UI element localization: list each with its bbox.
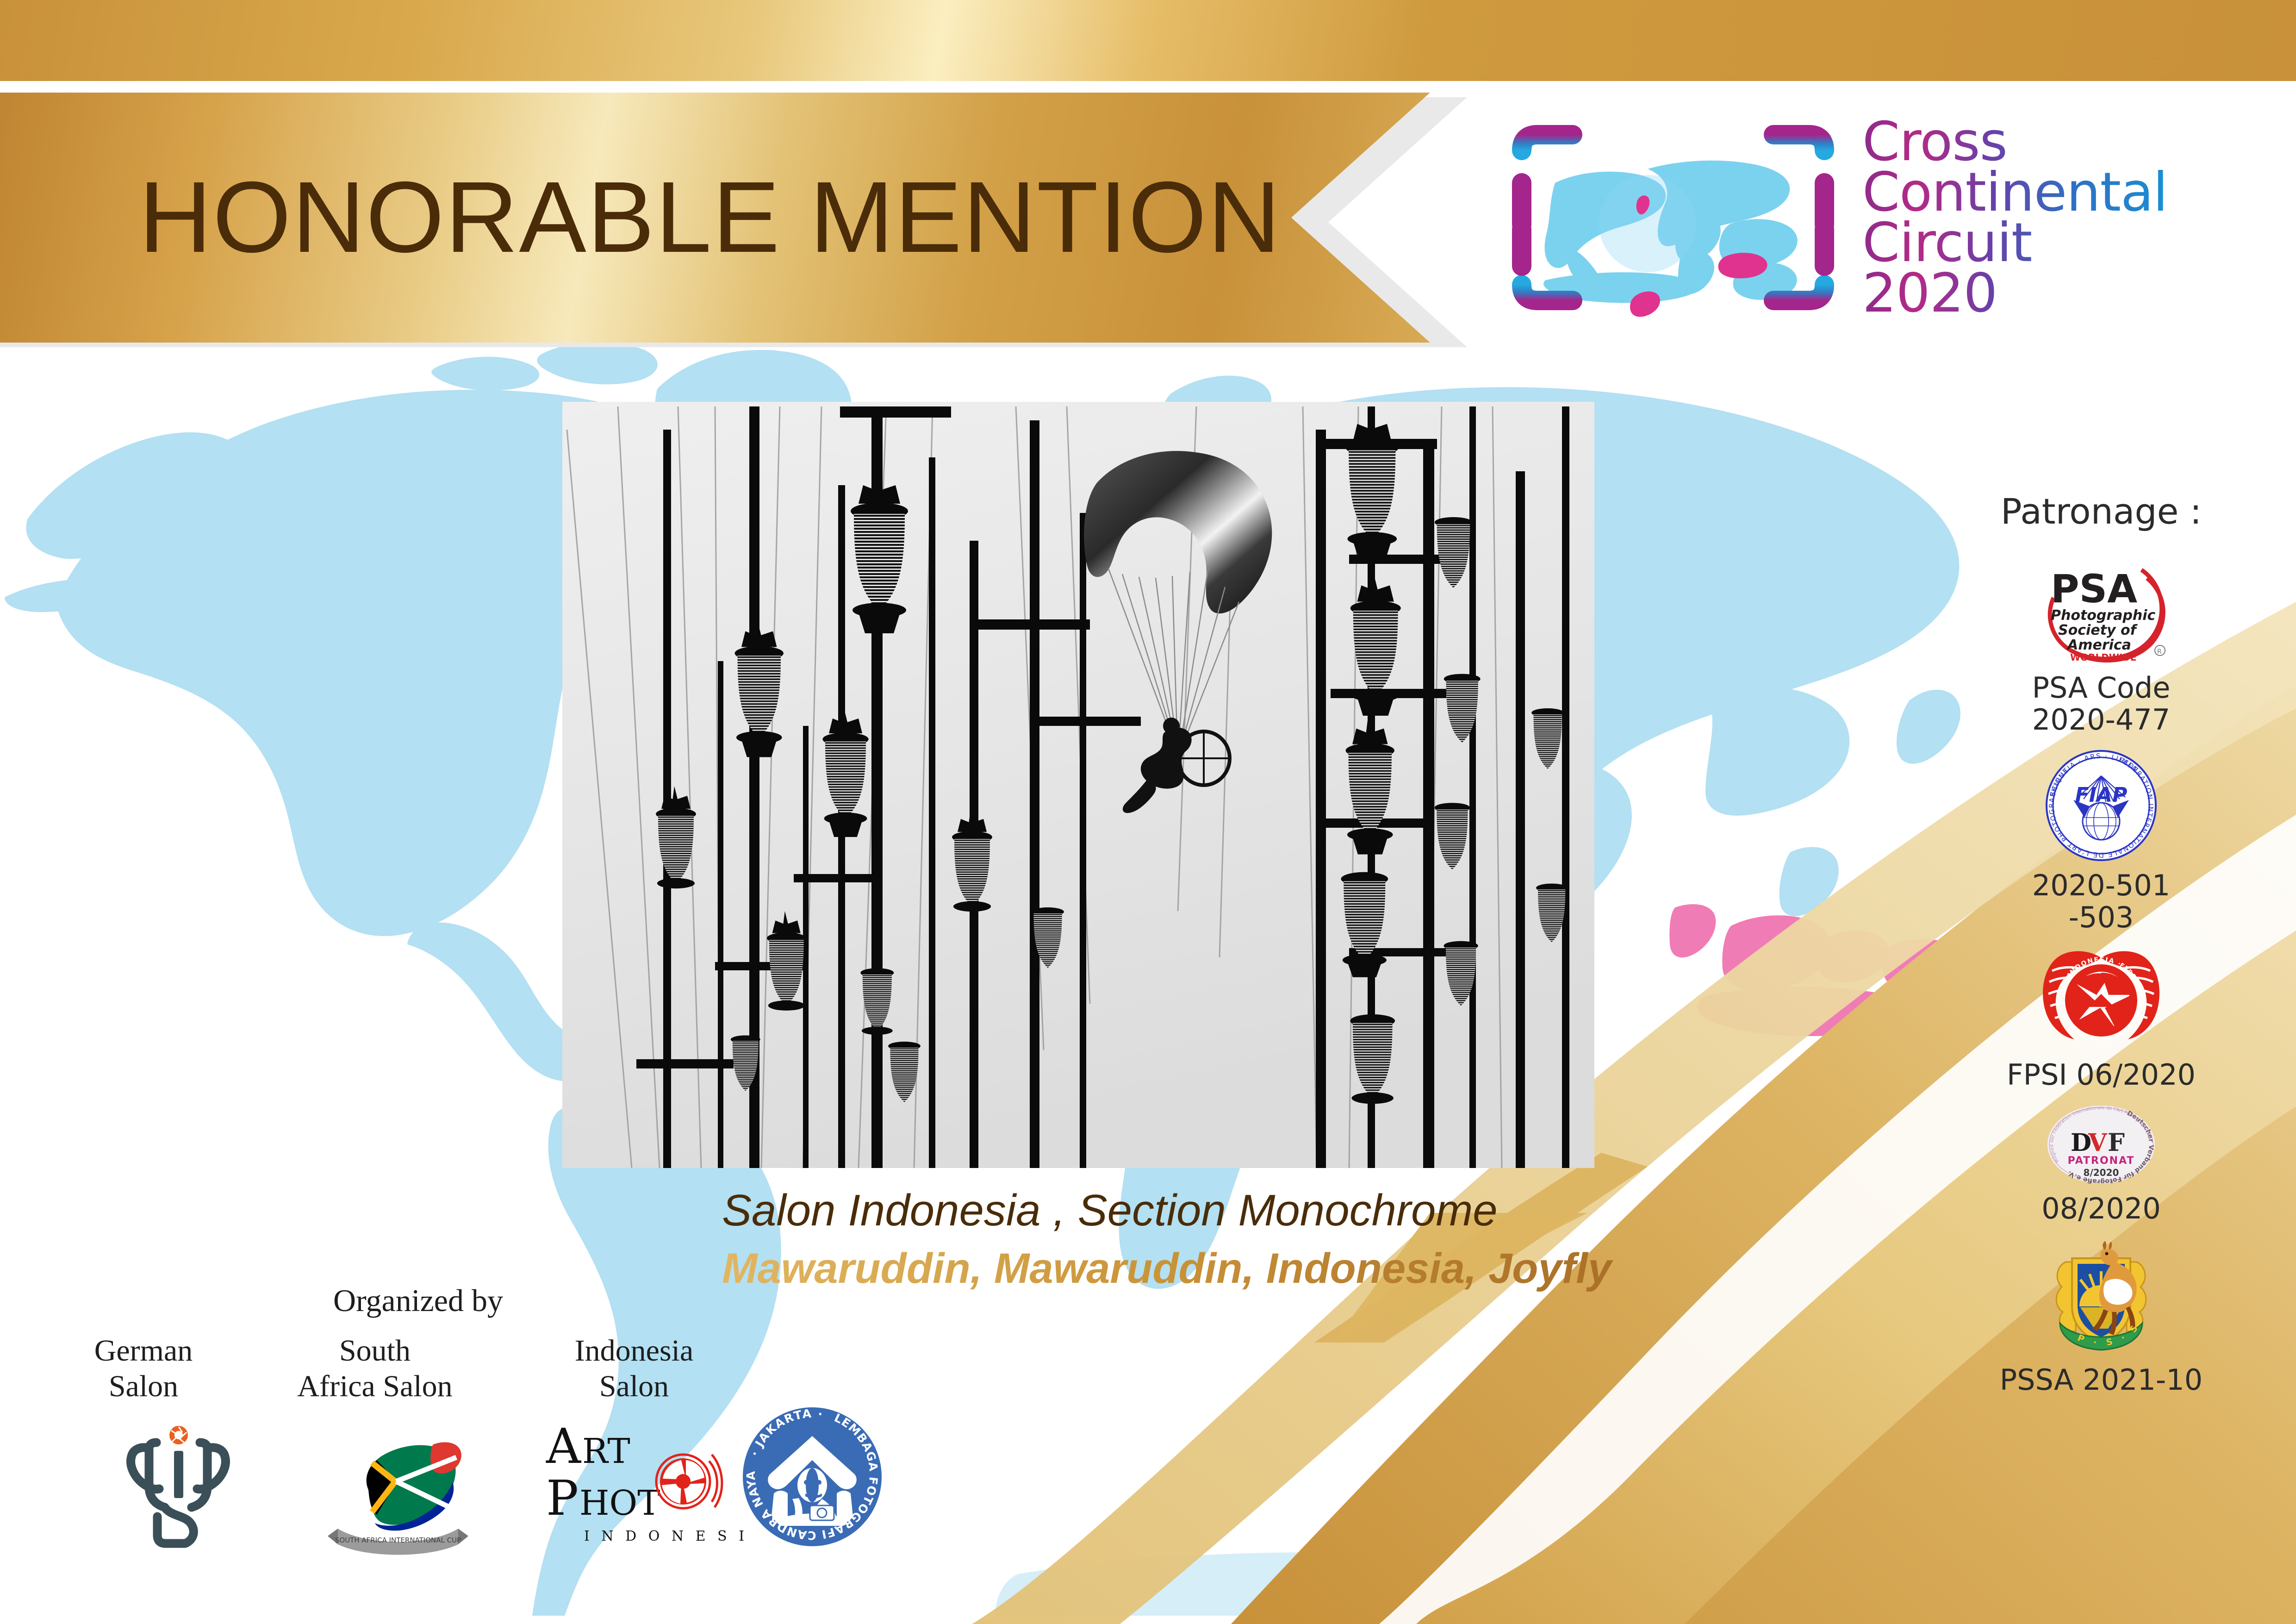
awarded-photograph: [562, 402, 1594, 1168]
svg-text:F: F: [2108, 1129, 2125, 1157]
patronage-heading: Patronage :: [1958, 491, 2245, 532]
top-gold-bar: [0, 0, 2296, 81]
award-certificate: HONORABLE MENTION: [0, 0, 2296, 1624]
pssa-shield-icon: P · S · S · A: [1958, 1237, 2245, 1357]
patronage-item-fpsi: FEDERASI PERKUMPULAN SENI FOTO · INDONES…: [1958, 946, 2245, 1091]
svg-text:HOT: HOT: [579, 1483, 660, 1523]
organizer-label-indonesia: Indonesia Salon: [546, 1333, 722, 1404]
south-africa-flag-map-logo-icon: SOUTH AFRICA INTERNATIONAL CUP: [324, 1412, 472, 1560]
svg-text:Society of: Society of: [2058, 622, 2138, 638]
fiap-seal-icon: FEDERATION INTERNATIONALE DE L'ART PHOTO…: [1958, 748, 2245, 863]
salon-section-label: Salon Indonesia , Section Monochrome: [722, 1185, 1627, 1236]
organizer-logos: SOUTH AFRICA INTERNATIONAL CUP A RT P HO…: [74, 1407, 1000, 1574]
brand-line-1: Cross: [1862, 117, 2167, 167]
award-banner: HONORABLE MENTION: [0, 93, 1481, 343]
lembaga-fotografi-candra-naya-logo-icon: LEMBAGA FOTOGRAFI CANDRA NAYA · JAKARTA …: [740, 1403, 884, 1551]
page-title: HONORABLE MENTION: [139, 167, 1282, 268]
dvf-stamp-icon: Deutscher Verband für Fotografie e.V. D …: [1958, 1103, 2245, 1186]
svg-text:Photographic: Photographic: [2051, 607, 2156, 624]
psa-logo-icon: PSA Photographic Society of America WORL…: [1958, 554, 2245, 665]
svg-text:R: R: [2157, 648, 2162, 656]
fpsi-emblem-icon: FEDERASI PERKUMPULAN SENI FOTO · INDONES…: [1958, 946, 2245, 1052]
psa-code-label: PSA Code 2020-477: [1958, 672, 2245, 736]
svg-text:RT: RT: [582, 1431, 630, 1471]
organized-by-heading: Organized by: [333, 1282, 503, 1319]
patronage-item-psa: PSA Photographic Society of America WORL…: [1958, 554, 2245, 736]
svg-text:PSA: PSA: [2051, 566, 2137, 612]
svg-text:I N D O N E S I A: I N D O N E S I A: [584, 1528, 754, 1544]
cross-continental-circuit-logo: Cross Continental Circuit 2020: [1495, 109, 2240, 326]
organizer-label-german: German Salon: [74, 1333, 213, 1404]
patronage-column: Patronage : PSA Photographic Society of …: [1958, 491, 2245, 1408]
pssa-code-label: PSSA 2021-10: [1958, 1364, 2245, 1396]
svg-text:SOUTH AFRICA INTERNATIONAL CUP: SOUTH AFRICA INTERNATIONAL CUP: [335, 1536, 461, 1544]
organizer-label-south-africa: South Africa Salon: [278, 1333, 472, 1404]
photo-caption: Salon Indonesia , Section Monochrome Maw…: [562, 1185, 1627, 1293]
svg-text:WORLDWIDE: WORLDWIDE: [2070, 652, 2137, 663]
patronage-item-fiap: FEDERATION INTERNATIONALE DE L'ART PHOTO…: [1958, 748, 2245, 934]
dvf-code-label: 08/2020: [1958, 1193, 2245, 1224]
art-photo-indonesia-logo-icon: A RT P HOT I: [541, 1412, 754, 1551]
fpsi-code-label: FPSI 06/2020: [1958, 1059, 2245, 1091]
brand-line-2: Continental: [1862, 167, 2167, 218]
brand-line-4: 2020: [1862, 268, 2167, 319]
brand-line-3: Circuit: [1862, 218, 2167, 268]
svg-text:America: America: [2066, 637, 2131, 653]
patronage-item-dvf: Deutscher Verband für Fotografie e.V. D …: [1958, 1103, 2245, 1224]
svg-text:8/2020: 8/2020: [2084, 1167, 2119, 1178]
svg-text:A: A: [546, 1418, 582, 1474]
brand-wordmark: Cross Continental Circuit 2020: [1862, 117, 2167, 319]
fiap-code-label: 2020-501 -503: [1958, 869, 2245, 934]
camera-bracket-world-icon: [1495, 113, 1851, 322]
svg-text:P: P: [546, 1470, 578, 1526]
patronage-item-pssa: P · S · S · A PSSA 2021-10: [1958, 1237, 2245, 1396]
author-label: Mawaruddin, Mawaruddin, Indonesia, Joyfl…: [722, 1244, 1627, 1293]
svg-text:V: V: [2088, 1129, 2108, 1157]
svg-text:PATRONAT: PATRONAT: [2068, 1155, 2135, 1167]
german-salon-trophy-logo-icon: [125, 1417, 231, 1555]
